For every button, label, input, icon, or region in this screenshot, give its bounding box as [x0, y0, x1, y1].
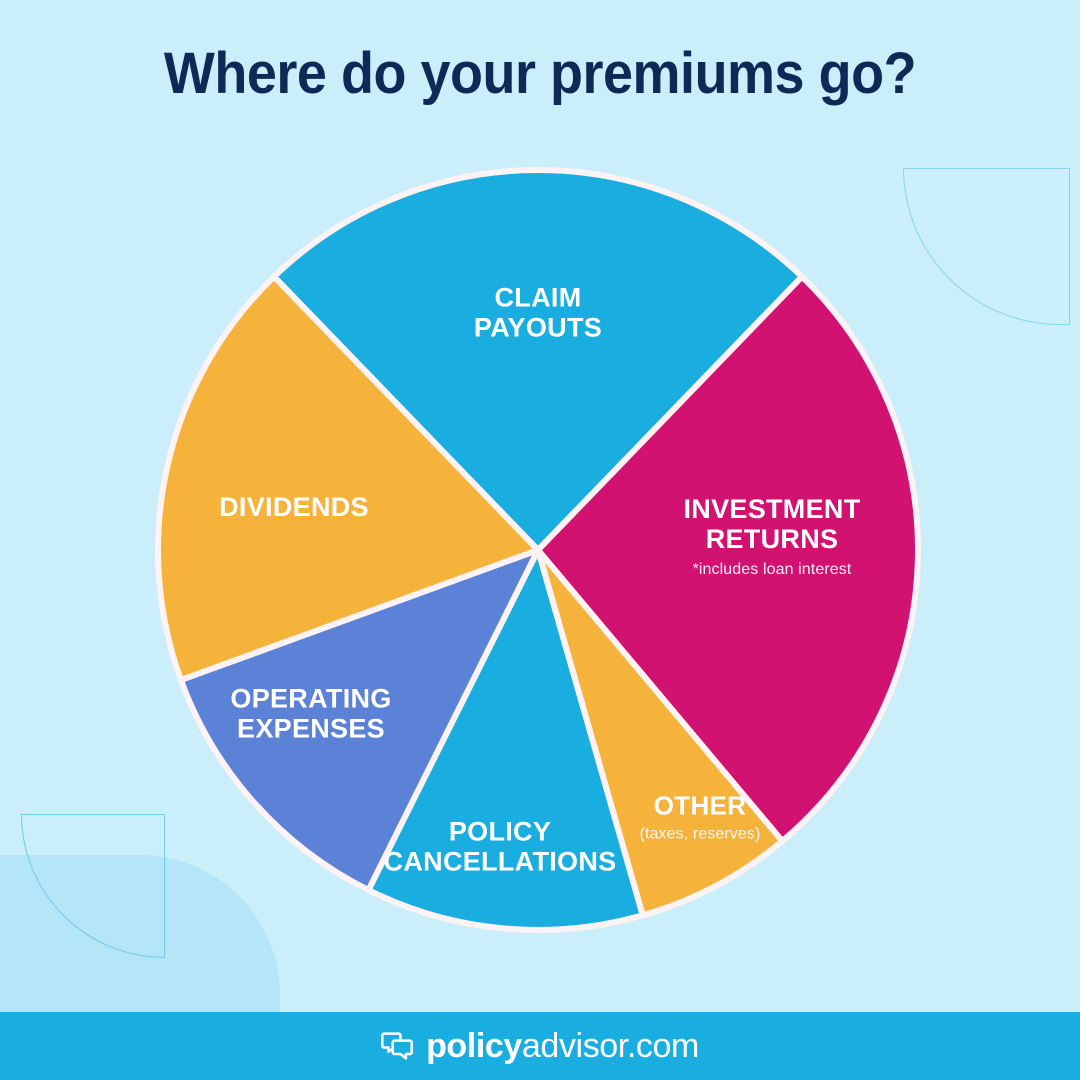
footer-bar: policyadvisor.com — [0, 1012, 1080, 1080]
infographic-canvas: Where do your premiums go? CLAIM PAYOUTS… — [0, 0, 1080, 1080]
pie-label-claim-payouts-line1: CLAIM — [495, 282, 582, 312]
pie-label-claim-payouts: CLAIM PAYOUTS — [474, 283, 602, 342]
pie-chart-svg — [0, 0, 1080, 1080]
pie-label-other-line1: OTHER — [654, 790, 747, 820]
pie-label-investment-returns: INVESTMENT RETURNS *includes loan intere… — [683, 495, 860, 579]
pie-label-investment-returns-line1: INVESTMENT — [683, 494, 860, 524]
pie-label-dividends: DIVIDENDS — [219, 493, 369, 523]
pie-label-operating-expenses-line2: EXPENSES — [237, 713, 385, 743]
pie-sublabel-investment-returns: *includes loan interest — [683, 561, 860, 579]
pie-label-dividends-line1: DIVIDENDS — [219, 492, 369, 522]
pie-label-operating-expenses-line1: OPERATING — [230, 683, 391, 713]
pie-label-policy-cancellations-line1: POLICY — [449, 816, 551, 846]
pie-chart: CLAIM PAYOUTS INVESTMENT RETURNS *includ… — [0, 0, 1080, 1080]
pie-label-policy-cancellations-line2: CANCELLATIONS — [384, 846, 617, 876]
pie-label-other: OTHER (taxes, reserves) — [640, 791, 761, 842]
footer-brand-bold: policy — [426, 1029, 522, 1063]
pie-label-policy-cancellations: POLICY CANCELLATIONS — [384, 817, 617, 876]
pie-sublabel-other: (taxes, reserves) — [640, 825, 761, 843]
pie-label-claim-payouts-line2: PAYOUTS — [474, 312, 602, 342]
pie-label-operating-expenses: OPERATING EXPENSES — [230, 684, 391, 743]
footer-brand-wordmark[interactable]: policyadvisor.com — [426, 1029, 699, 1063]
pie-label-investment-returns-line2: RETURNS — [706, 524, 839, 554]
chat-bubbles-icon — [381, 1030, 413, 1062]
footer-brand-light: advisor.com — [522, 1029, 699, 1063]
